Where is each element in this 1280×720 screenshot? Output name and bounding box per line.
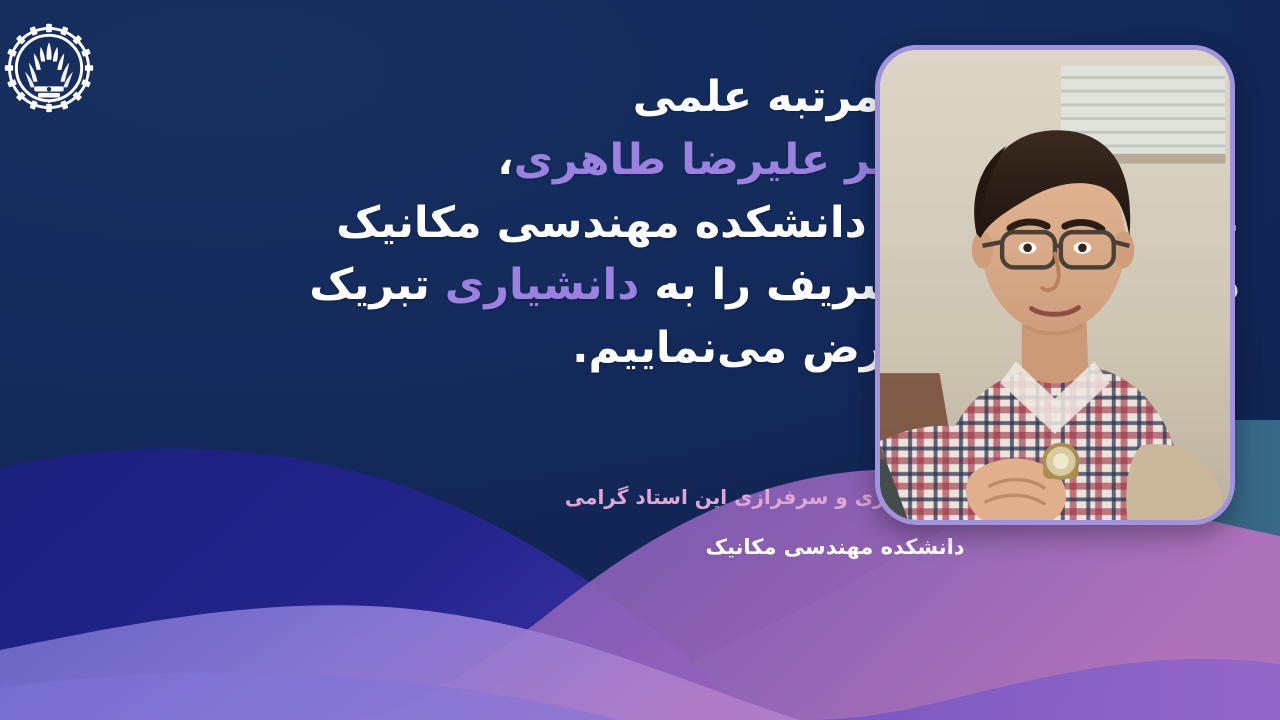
headline-line-4-suffix: تبریک	[309, 260, 445, 310]
professor-name: دکتر علیرضا طاهری	[514, 135, 937, 185]
headline-line-2-suffix: ،	[497, 135, 513, 185]
portrait-photo	[880, 50, 1230, 520]
new-rank: دانشیاری	[445, 260, 640, 310]
announcement-slide: ارتقای مرتبه علمی جناب آقای دکتر علیرضا …	[0, 0, 1280, 720]
portrait-frame	[875, 45, 1235, 525]
footer-department-line: دانشکده مهندسی مکانیک	[430, 532, 1240, 564]
sharif-university-logo	[3, 22, 95, 114]
